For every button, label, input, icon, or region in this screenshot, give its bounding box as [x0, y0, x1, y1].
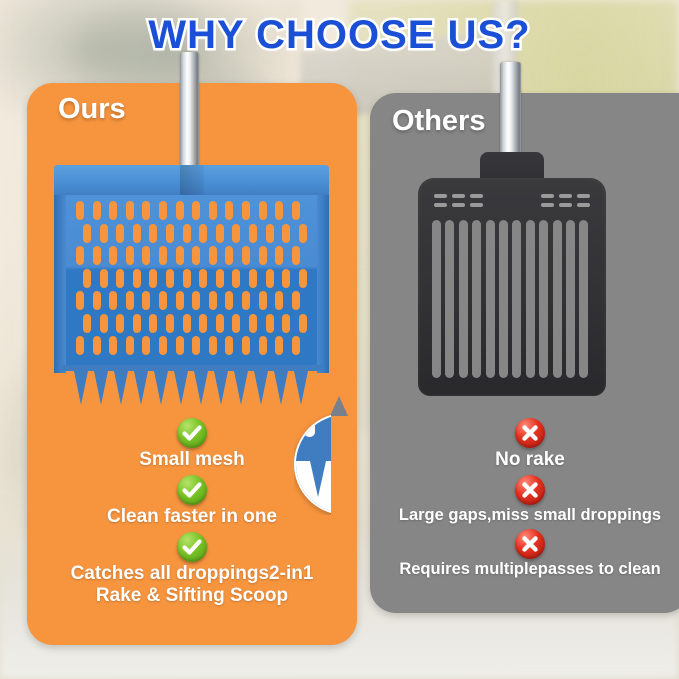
- slot-gap: [553, 220, 562, 378]
- mesh-hole: [166, 224, 174, 243]
- bullet-item: Small mesh: [34, 418, 350, 471]
- mesh-hole: [100, 224, 108, 243]
- vent-hole: [434, 194, 447, 198]
- mesh-hole: [83, 269, 91, 288]
- mesh-hole: [216, 269, 224, 288]
- slot-gap: [499, 220, 508, 378]
- mesh-hole: [282, 314, 290, 333]
- mesh-hole: [76, 201, 84, 220]
- bullet-label: No rake: [372, 449, 679, 471]
- mesh-hole: [126, 246, 134, 265]
- mesh-hole: [299, 224, 307, 243]
- mesh-hole: [166, 269, 174, 288]
- mesh-hole: [126, 336, 134, 355]
- vent-hole: [577, 203, 590, 207]
- bullet-label-line1: Catches all droppings2-in1: [34, 563, 350, 585]
- mesh-hole: [216, 224, 224, 243]
- mesh-hole: [275, 291, 283, 310]
- mesh-hole: [242, 201, 250, 220]
- vent-hole: [577, 194, 590, 198]
- mesh-hole: [159, 201, 167, 220]
- mesh-hole: [142, 291, 150, 310]
- cross-icon: [515, 475, 545, 505]
- vent-hole: [541, 194, 554, 198]
- mesh-hole: [133, 314, 141, 333]
- mesh-hole: [225, 291, 233, 310]
- bullet-item: Requires multiplepasses to clean: [372, 529, 679, 579]
- mesh-hole: [126, 201, 134, 220]
- bullet-list-ours: Small mesh Clean faster in one Catches a…: [34, 418, 350, 611]
- mesh-hole: [209, 201, 217, 220]
- mesh-hole: [142, 246, 150, 265]
- mesh-hole: [292, 336, 300, 355]
- callout-pointer-icon: [330, 396, 348, 416]
- mesh-hole: [209, 246, 217, 265]
- mesh-hole: [232, 269, 240, 288]
- vent-hole: [434, 203, 447, 207]
- mesh-hole: [242, 246, 250, 265]
- mesh-hole: [109, 201, 117, 220]
- mesh-hole: [242, 291, 250, 310]
- mesh-hole: [199, 314, 207, 333]
- mesh-hole: [249, 224, 257, 243]
- mesh-hole: [183, 269, 191, 288]
- panel-label-others: Others: [392, 105, 485, 138]
- slot-gap: [579, 220, 588, 378]
- blue-sifting-rake-scoop: [54, 165, 329, 405]
- bullet-label-line2: Rake & Sifting Scoop: [34, 585, 350, 607]
- mesh-hole: [142, 336, 150, 355]
- check-icon: [177, 418, 207, 448]
- blue-scoop-handle-base: [180, 165, 204, 195]
- mesh-hole: [83, 314, 91, 333]
- mesh-hole: [116, 269, 124, 288]
- slot-gap: [539, 220, 548, 378]
- check-icon: [177, 475, 207, 505]
- mesh-hole: [275, 336, 283, 355]
- slot-gap: [432, 220, 441, 378]
- cross-icon: [515, 418, 545, 448]
- bullet-label: Clean faster in one: [34, 506, 350, 528]
- mesh-hole: [76, 246, 84, 265]
- mesh-hole: [159, 246, 167, 265]
- mesh-hole: [266, 224, 274, 243]
- black-scoop-plate: [418, 178, 606, 396]
- mesh-hole: [292, 291, 300, 310]
- mesh-hole: [109, 336, 117, 355]
- bullet-item: Catches all droppings2-in1 Rake & Siftin…: [34, 532, 350, 607]
- mesh-hole: [76, 336, 84, 355]
- mesh-hole: [249, 314, 257, 333]
- bullet-label: Small mesh: [34, 449, 350, 471]
- mesh-hole: [242, 336, 250, 355]
- mesh-hole: [225, 246, 233, 265]
- mesh-hole: [93, 291, 101, 310]
- page-title: WHY CHOOSE US?: [0, 13, 679, 58]
- cross-icon: [515, 529, 545, 559]
- mesh-hole: [76, 291, 84, 310]
- slot-gap: [486, 220, 495, 378]
- mesh-hole: [282, 269, 290, 288]
- mesh-hole: [109, 246, 117, 265]
- mesh-hole: [149, 314, 157, 333]
- mesh-hole: [133, 269, 141, 288]
- mesh-hole: [299, 269, 307, 288]
- mesh-hole: [266, 314, 274, 333]
- bullet-label: Requires multiplepasses to clean: [372, 560, 679, 579]
- slot-gap: [526, 220, 535, 378]
- mesh-hole: [100, 269, 108, 288]
- mesh-hole: [292, 201, 300, 220]
- mesh-hole: [183, 314, 191, 333]
- black-scoop-slots: [432, 220, 592, 378]
- mesh-hole: [166, 314, 174, 333]
- mesh-hole: [259, 291, 267, 310]
- panel-label-ours: Ours: [58, 93, 126, 126]
- mesh-hole: [93, 201, 101, 220]
- black-scoop-handle: [500, 62, 521, 165]
- mesh-hole: [149, 224, 157, 243]
- mesh-hole: [225, 201, 233, 220]
- mesh-hole: [100, 314, 108, 333]
- mesh-hole: [176, 291, 184, 310]
- mesh-hole: [266, 269, 274, 288]
- mesh-hole: [259, 336, 267, 355]
- mesh-hole: [282, 224, 290, 243]
- mesh-hole: [126, 291, 134, 310]
- vent-hole: [559, 194, 572, 198]
- bullet-item: No rake: [372, 418, 679, 471]
- mesh-hole: [116, 224, 124, 243]
- vent-hole: [470, 194, 483, 198]
- bullet-label: Large gaps,miss small droppings: [372, 506, 679, 525]
- mesh-hole: [149, 269, 157, 288]
- bullet-item: Clean faster in one: [34, 475, 350, 528]
- slot-gap: [512, 220, 521, 378]
- mesh-hole: [159, 291, 167, 310]
- mesh-hole: [249, 269, 257, 288]
- mesh-hole: [176, 246, 184, 265]
- check-icon: [177, 532, 207, 562]
- mesh-hole: [259, 201, 267, 220]
- vent-hole: [452, 194, 465, 198]
- mesh-hole: [176, 336, 184, 355]
- mesh-hole: [199, 269, 207, 288]
- blue-scoop-mesh-holes: [76, 201, 308, 359]
- mesh-hole: [192, 201, 200, 220]
- mesh-hole: [83, 224, 91, 243]
- mesh-hole: [183, 224, 191, 243]
- slot-gap: [566, 220, 575, 378]
- bullet-list-others: No rake Large gaps,miss small droppings …: [372, 418, 679, 583]
- mesh-hole: [225, 336, 233, 355]
- mesh-hole: [275, 201, 283, 220]
- blue-scoop-side-left: [54, 195, 66, 373]
- mesh-hole: [209, 291, 217, 310]
- mesh-hole: [199, 224, 207, 243]
- slot-gap: [459, 220, 468, 378]
- mesh-hole: [192, 246, 200, 265]
- mesh-hole: [116, 314, 124, 333]
- mesh-hole: [109, 291, 117, 310]
- vent-hole: [541, 203, 554, 207]
- mesh-hole: [192, 336, 200, 355]
- mesh-hole: [216, 314, 224, 333]
- mesh-hole: [232, 224, 240, 243]
- mesh-hole: [292, 246, 300, 265]
- mesh-hole: [142, 201, 150, 220]
- mesh-hole: [176, 201, 184, 220]
- vent-hole: [452, 203, 465, 207]
- mesh-hole: [275, 246, 283, 265]
- blue-scoop-rake-teeth: [62, 365, 321, 409]
- slot-gap: [445, 220, 454, 378]
- mesh-hole: [133, 224, 141, 243]
- blue-scoop-handle: [180, 52, 199, 177]
- vent-hole: [559, 203, 572, 207]
- mesh-hole: [209, 336, 217, 355]
- mesh-hole: [93, 336, 101, 355]
- slot-gap: [472, 220, 481, 378]
- mesh-hole: [159, 336, 167, 355]
- mesh-hole: [299, 314, 307, 333]
- mesh-hole: [192, 291, 200, 310]
- mesh-hole: [232, 314, 240, 333]
- blue-scoop-side-right: [317, 195, 329, 373]
- bullet-item: Large gaps,miss small droppings: [372, 475, 679, 525]
- mesh-hole: [93, 246, 101, 265]
- vent-hole: [470, 203, 483, 207]
- black-slotted-scoop: [418, 178, 606, 396]
- mesh-hole: [259, 246, 267, 265]
- infographic-canvas: WHY CHOOSE US? Ours: [0, 0, 679, 679]
